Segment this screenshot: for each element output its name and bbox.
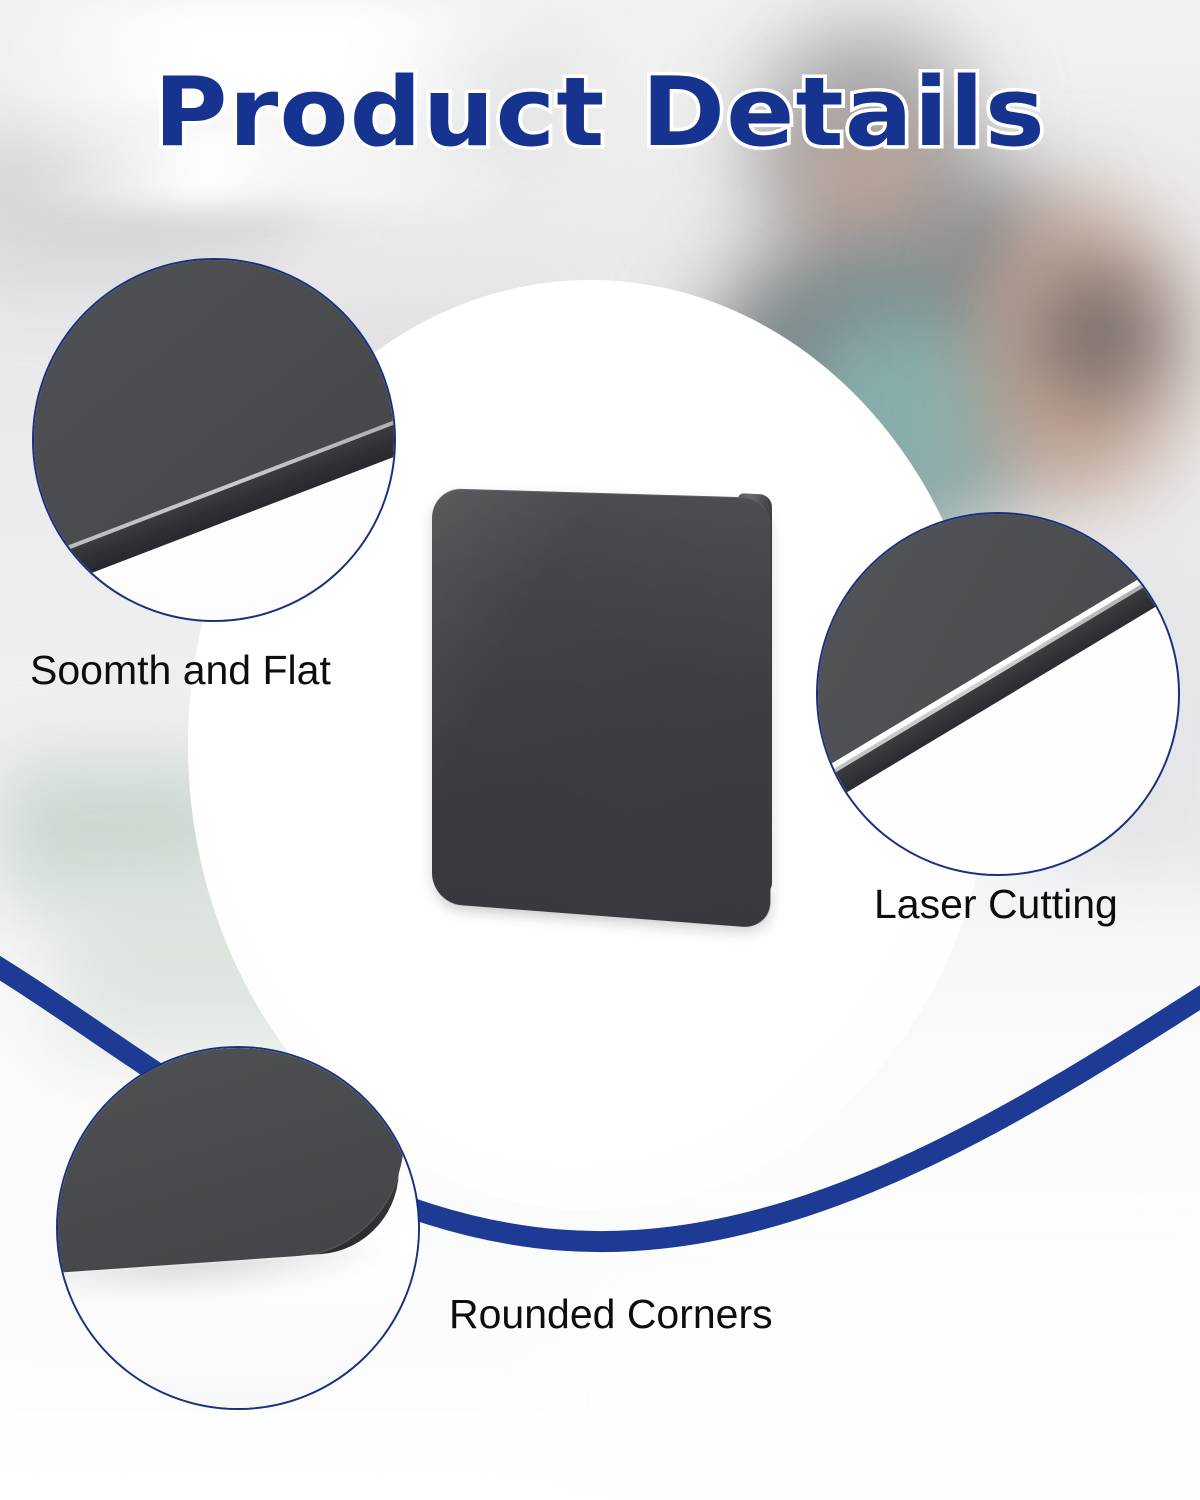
macro-smooth-flat <box>32 258 396 622</box>
plate-front-face <box>432 488 770 929</box>
page-title: Product Details <box>0 66 1200 161</box>
page-title-text: Product Details <box>154 66 1046 161</box>
callout-label-laser-cutting: Laser Cutting <box>874 884 1118 925</box>
callout-rounded-corners <box>56 1046 420 1410</box>
callout-laser-cutting <box>816 512 1180 876</box>
infographic-canvas: Soomth and Flat Laser Cutting Rounded Co… <box>0 0 1200 1500</box>
macro-rounded-corners <box>56 1046 420 1410</box>
product-plate <box>418 470 798 990</box>
callout-label-smooth-flat: Soomth and Flat <box>30 650 331 691</box>
macro-laser-cutting <box>816 512 1180 876</box>
callout-smooth-flat <box>32 258 396 622</box>
callout-label-rounded-corners: Rounded Corners <box>449 1294 773 1335</box>
